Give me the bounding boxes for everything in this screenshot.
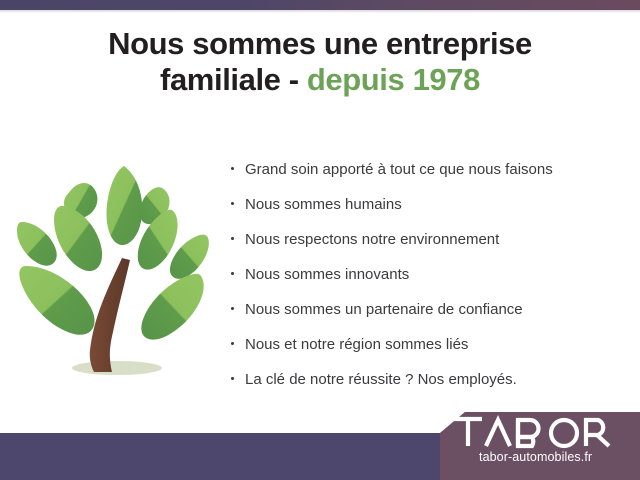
bullet-dot-icon — [231, 167, 234, 170]
page-title-line-2-main: familiale - — [160, 62, 307, 97]
tree-shadow — [72, 361, 162, 375]
bullet-dot-icon — [231, 342, 234, 345]
list-item-label: Nous sommes un partenaire de confiance — [245, 301, 523, 318]
bullet-dot-icon — [231, 237, 234, 240]
page-title-line-1: Nous sommes une entreprise — [0, 26, 640, 62]
list-item-label: La clé de notre réussite ? Nos employés. — [245, 371, 517, 388]
tree-trunk — [90, 258, 130, 372]
top-accent-strip-shadow — [0, 10, 640, 13]
bullet-dot-icon — [231, 202, 234, 205]
bullet-dot-icon — [231, 307, 234, 310]
bullet-dot-icon — [231, 272, 234, 275]
list-item-label: Nous respectons notre environnement — [245, 231, 499, 248]
brand-url: tabor-automobiles.fr — [479, 450, 632, 464]
tabor-wordmark-icon — [452, 415, 612, 449]
tree-illustration — [12, 160, 212, 380]
page-title-line-2: familiale - depuis 1978 — [0, 62, 640, 98]
page-title-accent: depuis 1978 — [307, 62, 480, 97]
page-title: Nous sommes une entreprise familiale - d… — [0, 26, 640, 98]
list-item-label: Grand soin apporté à tout ce que nous fa… — [245, 161, 553, 178]
list-item: Nous sommes un partenaire de confiance — [228, 292, 628, 327]
benefits-list: Grand soin apporté à tout ce que nous fa… — [228, 152, 628, 397]
list-item-label: Nous et notre région sommes liés — [245, 336, 468, 353]
top-accent-strip — [0, 0, 640, 10]
list-item-label: Nous sommes humains — [245, 196, 402, 213]
slide-root: Nous sommes une entreprise familiale - d… — [0, 0, 640, 480]
list-item: Nous sommes humains — [228, 187, 628, 222]
brand-logo: tabor-automobiles.fr — [452, 415, 632, 464]
list-item: Grand soin apporté à tout ce que nous fa… — [228, 152, 628, 187]
bullet-dot-icon — [231, 377, 234, 380]
list-item: Nous respectons notre environnement — [228, 222, 628, 257]
list-item: Nous sommes innovants — [228, 257, 628, 292]
list-item-label: Nous sommes innovants — [245, 266, 409, 283]
list-item: La clé de notre réussite ? Nos employés. — [228, 362, 628, 397]
list-item: Nous et notre région sommes liés — [228, 327, 628, 362]
